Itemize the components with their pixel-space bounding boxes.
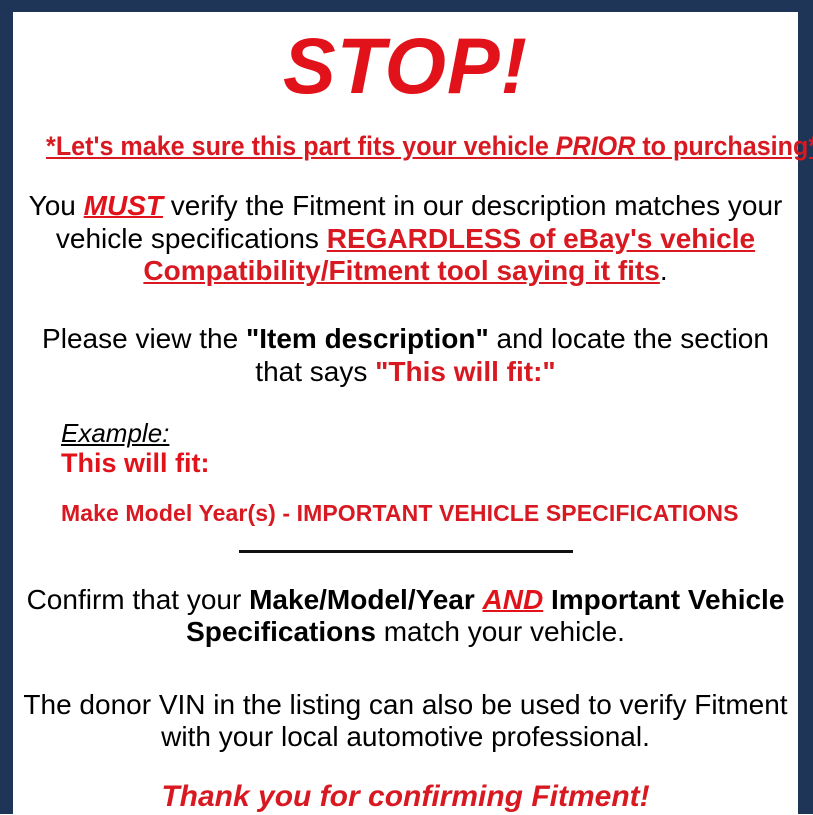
divider-rule xyxy=(239,550,573,553)
confirm-text-2: match your vehicle. xyxy=(376,616,625,647)
page-title: STOP! xyxy=(19,26,792,105)
divider xyxy=(19,550,792,553)
subtitle-after: to purchasing* xyxy=(635,131,813,161)
example-label: Example: xyxy=(61,419,169,447)
paragraph-confirm: Confirm that your Make/Model/Year AND Im… xyxy=(19,584,792,649)
must-text-1: You xyxy=(29,190,84,221)
fitment-notice-frame: STOP! *Let's make sure this part fits yo… xyxy=(0,0,813,814)
subtitle-emphasis: PRIOR xyxy=(556,131,636,161)
subtitle-banner: *Let's make sure this part fits your veh… xyxy=(46,131,765,162)
must-text-3: . xyxy=(660,255,668,286)
paragraph-description: Please view the "Item description" and l… xyxy=(19,323,792,388)
description-text-1: Please view the xyxy=(42,323,246,354)
item-description-emphasis: "Item description" xyxy=(246,323,489,354)
and-emphasis: AND xyxy=(483,584,544,615)
make-model-year-emphasis: Make/Model/Year xyxy=(249,584,475,615)
confirm-text-1: Confirm that your xyxy=(27,584,250,615)
confirm-space-1 xyxy=(475,584,483,615)
paragraph-must: You MUST verify the Fitment in our descr… xyxy=(19,190,792,287)
example-block: Example: This will fit: Make Model Year(… xyxy=(19,419,792,526)
example-spec-line: Make Model Year(s) - IMPORTANT VEHICLE S… xyxy=(61,501,792,526)
this-will-fit-emphasis: "This will fit:" xyxy=(375,356,556,387)
notice-content: STOP! *Let's make sure this part fits yo… xyxy=(13,26,798,815)
example-fit-heading: This will fit: xyxy=(61,448,792,478)
subtitle-before: *Let's make sure this part fits your veh… xyxy=(46,131,556,161)
confirm-space-2 xyxy=(543,584,551,615)
thanks-message: Thank you for confirming Fitment! xyxy=(19,780,792,813)
must-emphasis: MUST xyxy=(84,190,163,221)
paragraph-vin: The donor VIN in the listing can also be… xyxy=(19,689,792,754)
